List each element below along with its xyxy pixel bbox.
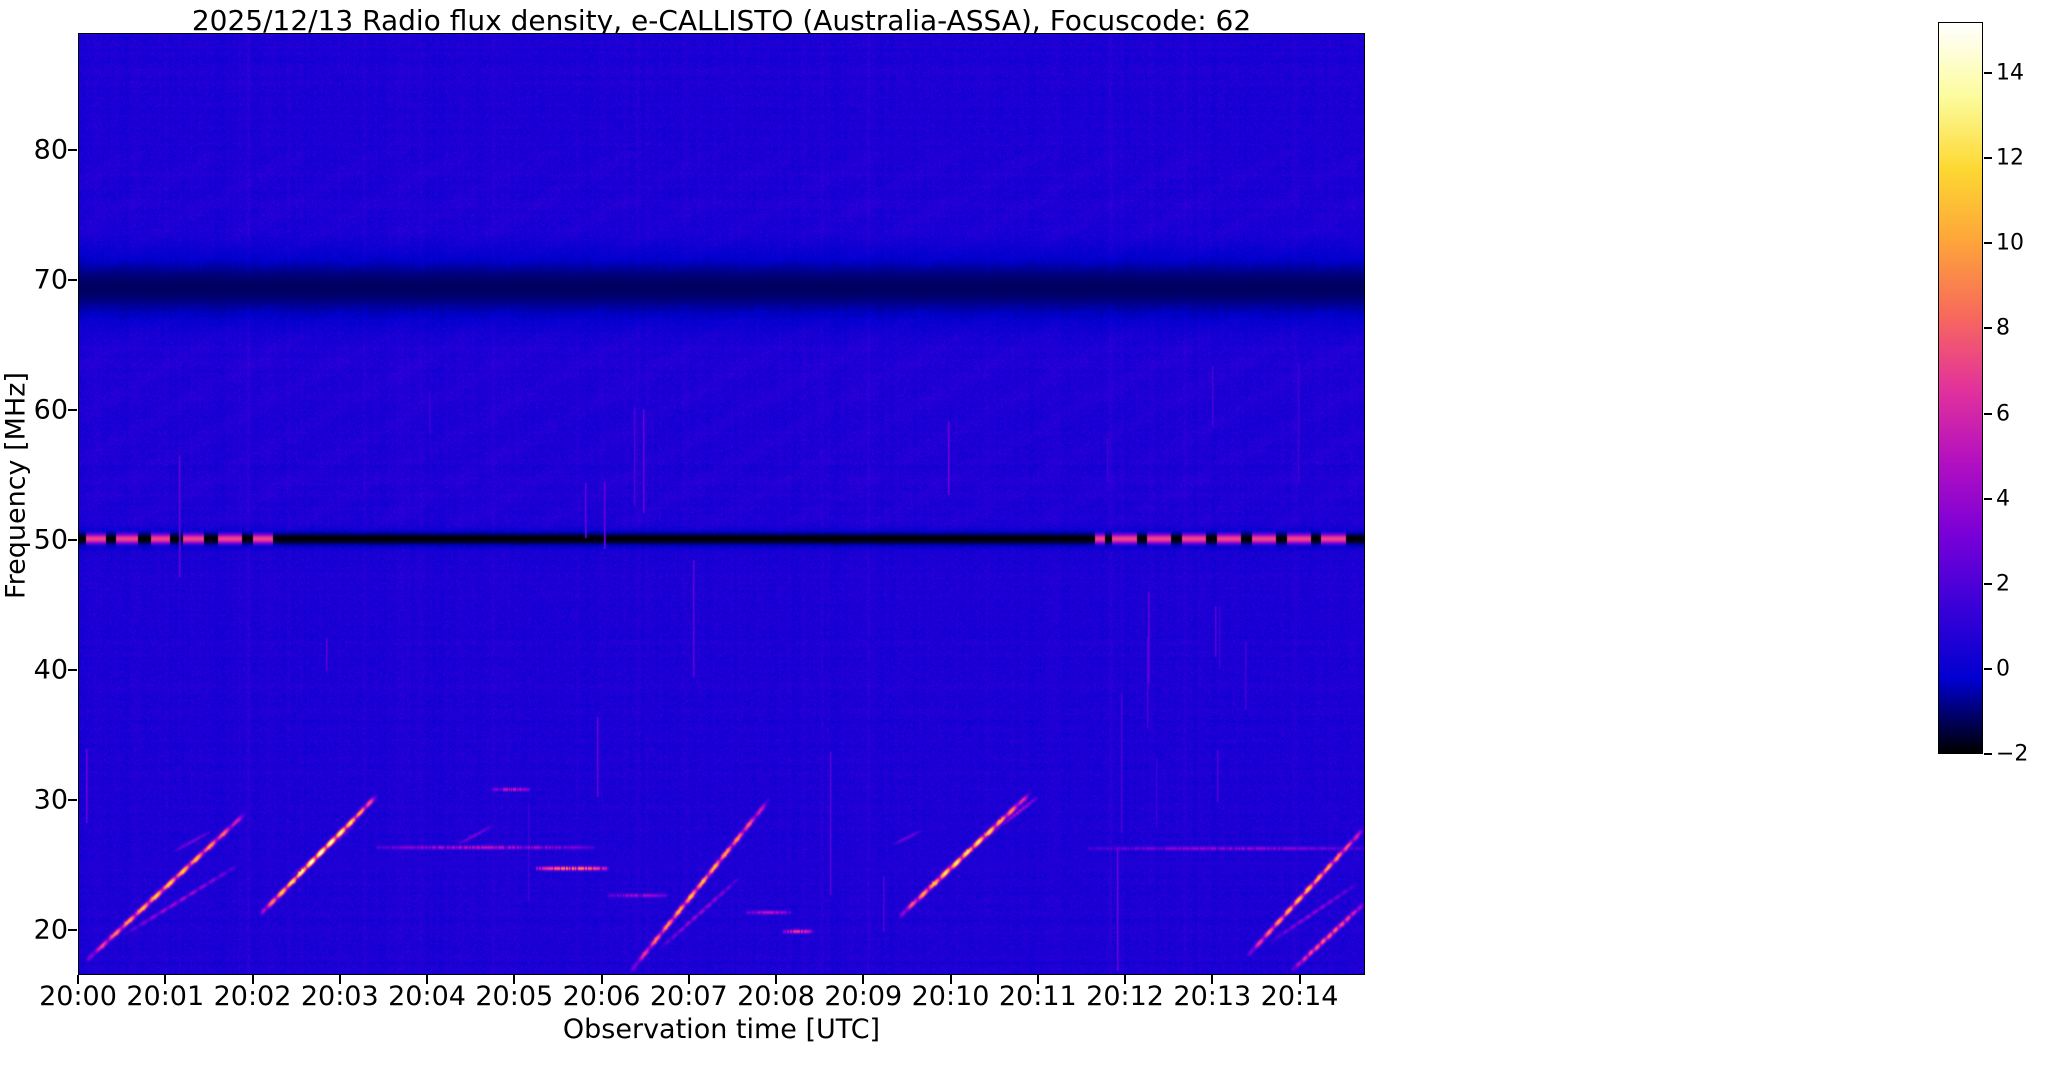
colorbar-tick-label: −2 (1996, 742, 2028, 767)
x-tick-mark (862, 975, 864, 984)
colorbar-tick-mark (1984, 72, 1992, 74)
colorbar-tick-mark (1984, 753, 1992, 755)
x-tick-label: 20:04 (388, 981, 466, 1012)
x-tick-label: 20:12 (1086, 981, 1164, 1012)
x-tick-label: 20:02 (214, 981, 292, 1012)
x-tick-mark (1124, 975, 1126, 984)
x-tick-label: 20:14 (1261, 981, 1339, 1012)
x-axis-label: Observation time [UTC] (78, 1014, 1365, 1045)
x-tick-label: 20:06 (563, 981, 641, 1012)
x-tick-mark (688, 975, 690, 984)
x-tick-label: 20:07 (650, 981, 728, 1012)
x-tick-label: 20:01 (126, 981, 204, 1012)
colorbar-tick-mark (1984, 327, 1992, 329)
x-tick-mark (1211, 975, 1213, 984)
colorbar-tick-label: 6 (1996, 401, 2010, 426)
colorbar-tick-mark (1984, 583, 1992, 585)
x-tick-mark (77, 975, 79, 984)
colorbar-tick-label: 14 (1996, 61, 2024, 86)
colorbar-tick-mark (1984, 242, 1992, 244)
x-tick-label: 20:03 (301, 981, 379, 1012)
x-tick-mark (775, 975, 777, 984)
x-tick-label: 20:09 (824, 981, 902, 1012)
x-tick-mark (1299, 975, 1301, 984)
colorbar-tick-label: 0 (1996, 656, 2010, 681)
x-tick-mark (164, 975, 166, 984)
x-tick-mark (426, 975, 428, 984)
y-axis-label: Frequency [MHz] (1, 15, 32, 957)
colorbar[interactable] (1938, 22, 1983, 754)
x-tick-mark (601, 975, 603, 984)
colorbar-tick-label: 12 (1996, 146, 2024, 171)
x-tick-label: 20:10 (912, 981, 990, 1012)
x-tick-label: 20:05 (475, 981, 553, 1012)
x-tick-mark (252, 975, 254, 984)
colorbar-tick-label: 4 (1996, 486, 2010, 511)
spectrogram-figure: 2025/12/13 Radio flux density, e-CALLIST… (0, 0, 2047, 1067)
colorbar-tick-label: 2 (1996, 571, 2010, 596)
x-tick-label: 20:13 (1173, 981, 1251, 1012)
x-axis-ticks: 20:0020:0120:0220:0320:0420:0520:0620:07… (0, 0, 2047, 1067)
x-tick-label: 20:00 (39, 981, 117, 1012)
colorbar-tick-mark (1984, 413, 1992, 415)
x-tick-mark (513, 975, 515, 984)
colorbar-tick-mark (1984, 157, 1992, 159)
x-tick-label: 20:08 (737, 981, 815, 1012)
x-tick-mark (950, 975, 952, 984)
colorbar-tick-mark (1984, 498, 1992, 500)
x-tick-mark (339, 975, 341, 984)
colorbar-tick-label: 10 (1996, 231, 2024, 256)
x-tick-mark (1037, 975, 1039, 984)
colorbar-tick-mark (1984, 668, 1992, 670)
colorbar-gradient (1939, 23, 1982, 753)
x-tick-label: 20:11 (999, 981, 1077, 1012)
colorbar-tick-label: 8 (1996, 316, 2010, 341)
